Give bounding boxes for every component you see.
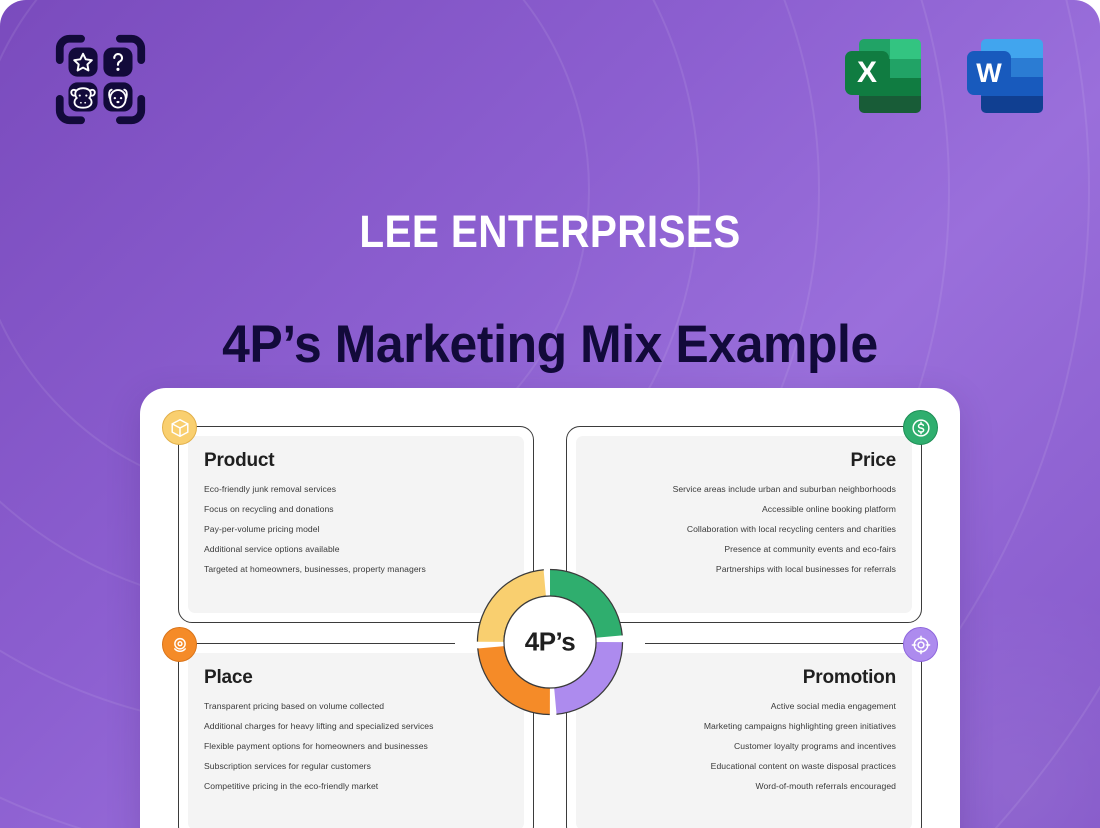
target-crosshair-icon <box>903 627 938 662</box>
quadrant-product-title: Product <box>204 450 508 472</box>
quadrant-price-list: Service areas include urban and suburban… <box>592 485 896 574</box>
list-item: Partnerships with local businesses for r… <box>592 565 896 574</box>
dollar-coin-icon <box>903 410 938 445</box>
svg-text:X: X <box>857 56 877 89</box>
list-item: Presence at community events and eco-fai… <box>592 545 896 554</box>
quadrant-promotion-list: Active social media engagement Marketing… <box>592 702 896 791</box>
list-item: Additional charges for heavy lifting and… <box>204 722 508 731</box>
list-item: Word-of-mouth referrals encouraged <box>592 782 896 791</box>
quadrant-price-title: Price <box>592 450 896 472</box>
list-item: Service areas include urban and suburban… <box>592 485 896 494</box>
excel-icon[interactable]: X <box>838 31 928 121</box>
list-item: Customer loyalty programs and incentives <box>592 742 896 751</box>
list-item: Subscription services for regular custom… <box>204 762 508 771</box>
list-item: Collaboration with local recycling cente… <box>592 525 896 534</box>
list-item: Pay-per-volume pricing model <box>204 525 508 534</box>
list-item: Educational content on waste disposal pr… <box>592 762 896 771</box>
star-icon <box>68 47 97 76</box>
four-p-grid: Product Eco-friendly junk removal servic… <box>178 426 922 828</box>
quadrant-promotion-title: Promotion <box>592 667 896 689</box>
content-card: Product Eco-friendly junk removal servic… <box>140 388 960 828</box>
list-item: Focus on recycling and donations <box>204 505 508 514</box>
list-item: Transparent pricing based on volume coll… <box>204 702 508 711</box>
list-item: Additional service options available <box>204 545 508 554</box>
office-app-icons: X W <box>838 31 1050 121</box>
center-donut-chart: 4P’s <box>472 564 628 720</box>
quadrant-place-title: Place <box>204 667 508 689</box>
list-item: Marketing campaigns highlighting green i… <box>592 722 896 731</box>
location-pin-icon <box>162 627 197 662</box>
svg-text:W: W <box>976 58 1002 88</box>
list-item: Eco-friendly junk removal services <box>204 485 508 494</box>
list-item: Flexible payment options for homeowners … <box>204 742 508 751</box>
word-icon[interactable]: W <box>960 31 1050 121</box>
deck-title: 4P’s Marketing Mix Example <box>33 315 1067 376</box>
box-icon <box>162 410 197 445</box>
list-item: Accessible online booking platform <box>592 505 896 514</box>
quadrant-place-list: Transparent pricing based on volume coll… <box>204 702 508 791</box>
brand-title: LEE ENTERPRISES <box>55 209 1045 254</box>
quiz-scan-logo[interactable] <box>52 31 149 128</box>
slide-canvas: X W LEE ENTERPRISES 4P’s Marketing Mix E… <box>0 0 1100 828</box>
quadrant-product-list: Eco-friendly junk removal services Focus… <box>204 485 508 574</box>
list-item: Active social media engagement <box>592 702 896 711</box>
list-item: Targeted at homeowners, businesses, prop… <box>204 565 508 574</box>
list-item: Competitive pricing in the eco-friendly … <box>204 782 508 791</box>
